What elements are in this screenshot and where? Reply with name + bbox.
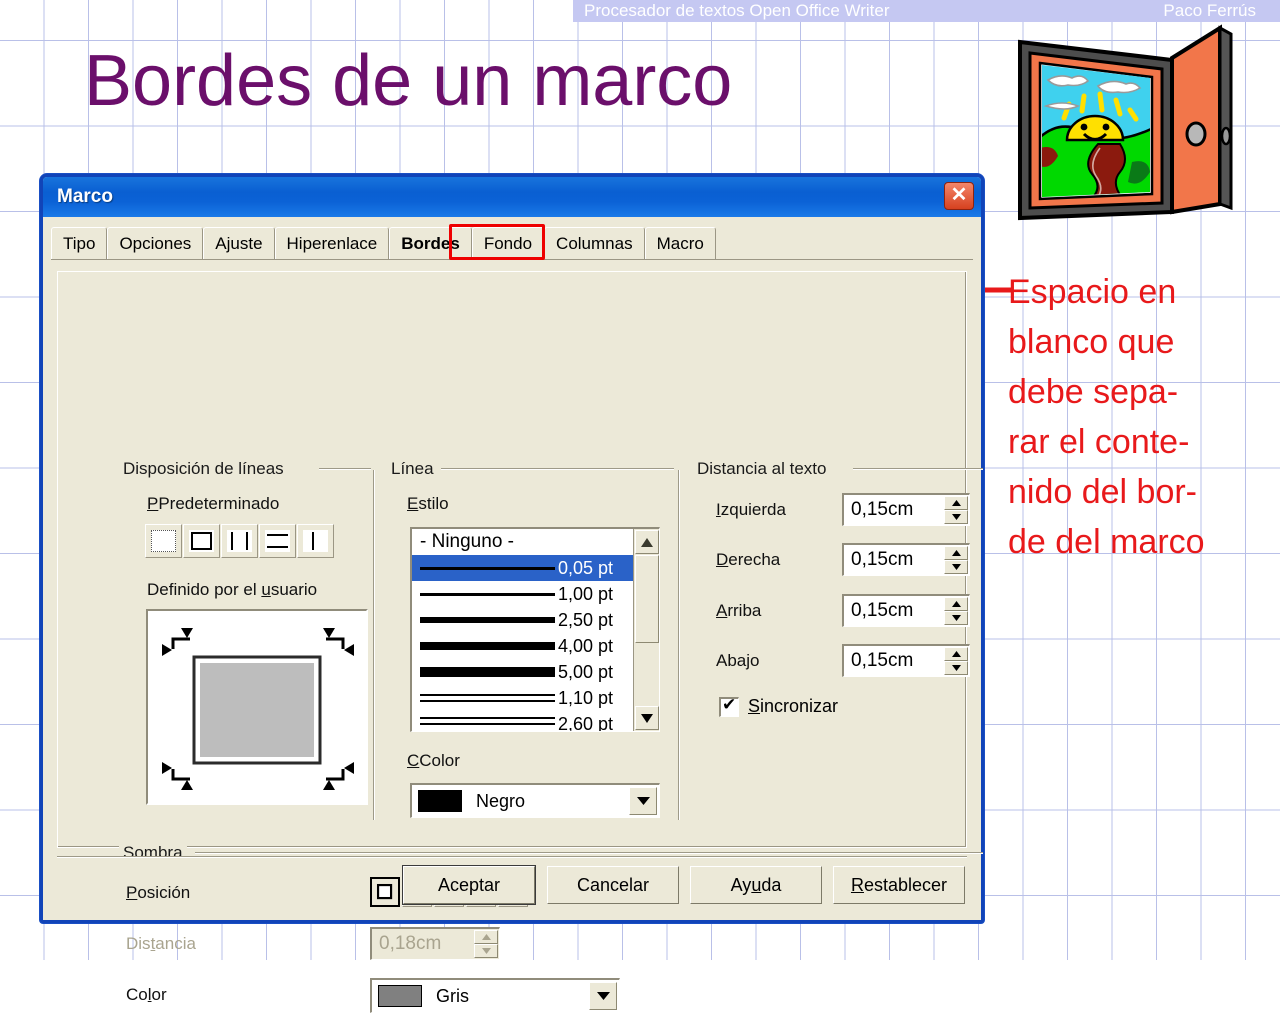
spinner-down-icon[interactable] <box>944 611 968 625</box>
all-borders-preset-button[interactable] <box>183 524 220 558</box>
sincronizar-label-text: incronizar <box>760 696 838 716</box>
slide-banner: Procesador de textos Open Office Writer … <box>573 0 1280 22</box>
tab-columnas[interactable]: Columnas <box>544 227 645 259</box>
style-label: 0,05 pt <box>558 558 613 579</box>
restablecer-button[interactable]: Restablecer <box>833 866 965 904</box>
distance-top-value: 0,15cm <box>851 600 913 622</box>
distance-left-input[interactable]: 0,15cm <box>842 493 970 526</box>
page-title: Bordes de un marco <box>84 45 732 117</box>
list-item[interactable]: 0,05 pt <box>412 555 659 581</box>
dialog-tabs: Tipo Opciones Ajuste Hiperenlace Bordes … <box>51 222 973 260</box>
spinner-down-icon[interactable] <box>944 560 968 574</box>
distance-bottom-value: 0,15cm <box>851 650 913 672</box>
ayuda-label: Ayuda <box>731 875 782 896</box>
style-preview <box>420 667 555 677</box>
label-line-color: CColor <box>407 751 460 771</box>
spinner-down-icon[interactable] <box>944 661 968 675</box>
list-item[interactable]: 2,60 pt <box>412 711 659 732</box>
cancelar-button[interactable]: Cancelar <box>547 866 679 904</box>
group-label-shadow: Sombra <box>119 843 187 863</box>
spinner-top[interactable] <box>944 597 968 625</box>
style-preview <box>420 617 555 623</box>
style-preview <box>420 593 555 596</box>
style-label: 2,50 pt <box>558 610 613 631</box>
line-color-combobox[interactable]: Negro <box>410 783 660 818</box>
open-door-clipart <box>1012 22 1240 230</box>
label-arriba: Arriba <box>716 601 761 621</box>
border-edit-canvas[interactable] <box>148 611 370 807</box>
group-separator-vertical-left <box>373 470 375 820</box>
scrollbar-thumb[interactable] <box>635 555 659 643</box>
style-label: 2,60 pt <box>558 714 613 733</box>
distance-top-input[interactable]: 0,15cm <box>842 594 970 627</box>
border-edit-area[interactable] <box>146 609 368 805</box>
spinner-up-icon[interactable] <box>944 496 968 510</box>
spinner-down-icon <box>474 944 498 958</box>
chevron-down-icon[interactable] <box>629 787 657 815</box>
scroll-up-icon[interactable] <box>635 530 659 554</box>
banner-course-title: Procesador de textos Open Office Writer <box>584 1 890 21</box>
sincronizar-checkbox-row[interactable]: Sincronizar <box>719 696 838 717</box>
style-label: 1,00 pt <box>558 584 613 605</box>
distance-bottom-input[interactable]: 0,15cm <box>842 644 970 677</box>
list-item[interactable]: 5,00 pt <box>412 659 659 685</box>
label-predeterminado-text: Predeterminado <box>158 494 279 513</box>
tab-macro[interactable]: Macro <box>645 227 716 259</box>
group-label-line: Línea <box>387 459 438 479</box>
spinner-up-icon <box>474 930 498 944</box>
top-bottom-borders-preset-button[interactable] <box>259 524 296 558</box>
listbox-scrollbar[interactable] <box>633 529 659 731</box>
ayuda-button[interactable]: Ayuda <box>690 866 822 904</box>
spinner-right[interactable] <box>944 546 968 574</box>
sincronizar-checkbox[interactable] <box>719 697 739 717</box>
list-item[interactable]: - Ninguno - <box>412 529 659 555</box>
tab-tipo[interactable]: Tipo <box>51 227 107 259</box>
group-label-distance: Distancia al texto <box>693 459 830 479</box>
tab-fondo[interactable]: Fondo <box>472 227 544 259</box>
dialog-title: Marco <box>57 186 113 208</box>
group-rule-distance <box>853 468 983 470</box>
shadow-color-swatch <box>378 985 422 1007</box>
style-label: 5,00 pt <box>558 662 613 683</box>
close-icon[interactable]: ✕ <box>944 182 974 210</box>
group-rule-line-arrangement <box>319 468 371 470</box>
style-label: 1,10 pt <box>558 688 613 709</box>
label-izquierda: Izquierda <box>716 500 786 520</box>
label-predeterminado: PPredeterminado <box>147 494 279 514</box>
group-separator-vertical-right <box>678 470 680 820</box>
label-derecha: Derecha <box>716 550 780 570</box>
marco-dialog: Marco ✕ Tipo Opciones Ajuste Hiperenlace… <box>40 174 984 923</box>
shadow-distance-input: 0,18cm <box>370 927 500 960</box>
label-line-color-text: Color <box>419 751 460 770</box>
preset-border-buttons <box>145 524 335 558</box>
spinner-down-icon[interactable] <box>944 510 968 524</box>
spinner-left[interactable] <box>944 496 968 524</box>
spinner-up-icon[interactable] <box>944 597 968 611</box>
distance-right-value: 0,15cm <box>851 549 913 571</box>
label-shadow-color: Color <box>126 985 167 1005</box>
label-estilo: Estilo <box>407 494 449 514</box>
left-border-preset-button[interactable] <box>297 524 334 558</box>
banner-author: Paco Ferrús <box>1163 1 1256 21</box>
spinner-bottom[interactable] <box>944 647 968 675</box>
aceptar-button[interactable]: Aceptar <box>403 866 535 904</box>
shadow-color-combobox[interactable]: Gris <box>370 978 620 1013</box>
restablecer-label: Restablecer <box>851 875 947 896</box>
style-label: - Ninguno - <box>420 531 514 553</box>
list-item[interactable]: 1,00 pt <box>412 581 659 607</box>
label-abajo: Abajo <box>716 651 760 671</box>
tab-bordes[interactable]: Bordes <box>389 227 472 259</box>
list-item[interactable]: 1,10 pt <box>412 685 659 711</box>
line-color-value: Negro <box>476 791 525 812</box>
annotation-distance-to-text: Espacio en blanco que debe sepa- rar el … <box>1008 268 1205 568</box>
list-item[interactable]: 2,50 pt <box>412 607 659 633</box>
style-label: 4,00 pt <box>558 636 613 657</box>
no-borders-preset-button[interactable] <box>145 524 182 558</box>
dialog-titlebar[interactable]: Marco ✕ <box>43 177 981 217</box>
distance-left-value: 0,15cm <box>851 499 913 521</box>
style-preview <box>420 717 555 725</box>
line-style-listbox[interactable]: - Ninguno - 0,05 pt 1,00 pt 2,50 pt 4,00… <box>410 527 660 732</box>
shadow-color-value: Gris <box>436 986 469 1007</box>
group-rule-line <box>441 468 674 470</box>
scroll-down-icon[interactable] <box>635 706 659 730</box>
list-item[interactable]: 4,00 pt <box>412 633 659 659</box>
left-right-borders-preset-button[interactable] <box>221 524 258 558</box>
label-distancia: Distancia <box>126 934 196 954</box>
label-definido-por-el-usuario: Definido por el usuario <box>147 580 317 600</box>
button-row-separator <box>57 856 967 858</box>
line-color-swatch <box>418 790 462 812</box>
distance-right-input[interactable]: 0,15cm <box>842 543 970 576</box>
style-preview <box>420 694 555 702</box>
spinner-shadow-distance <box>474 930 498 958</box>
spinner-up-icon[interactable] <box>944 546 968 560</box>
tab-hiperenlace[interactable]: Hiperenlace <box>275 227 390 259</box>
sincronizar-label: Sincronizar <box>748 696 838 717</box>
dialog-button-row: Aceptar Cancelar Ayuda Restablecer <box>43 866 981 906</box>
tab-ajuste[interactable]: Ajuste <box>203 227 274 259</box>
style-preview <box>420 567 555 570</box>
shadow-distance-value: 0,18cm <box>379 933 441 955</box>
tab-opciones[interactable]: Opciones <box>107 227 203 259</box>
chevron-down-icon[interactable] <box>589 982 617 1010</box>
spinner-up-icon[interactable] <box>944 647 968 661</box>
group-rule-shadow <box>195 852 983 854</box>
style-preview <box>420 642 555 650</box>
group-label-line-arrangement: Disposición de líneas <box>119 459 288 479</box>
